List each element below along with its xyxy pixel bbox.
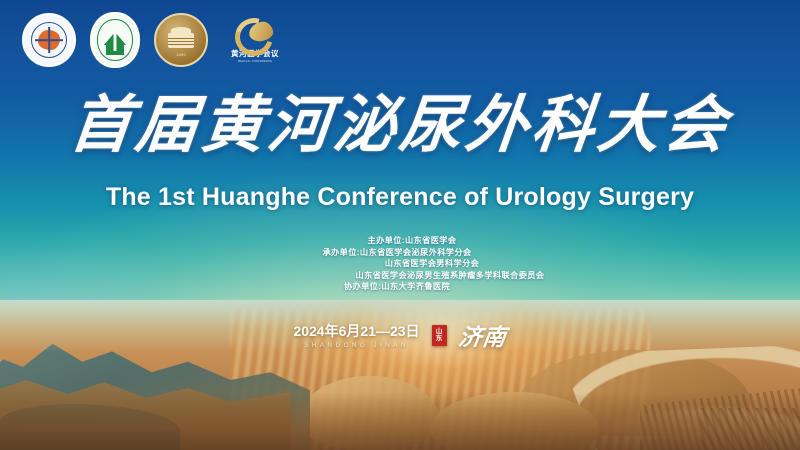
qilu-hospital-logo: 1890 (154, 13, 208, 67)
organizer-line: 承办单位:山东省医学会泌尿外科学分会 (322, 247, 471, 259)
logo3-building-mark (168, 33, 194, 48)
page-title-english: The 1st Huanghe Conference of Urology Su… (0, 183, 800, 212)
shandong-seal-stamp: 山 东 (432, 325, 447, 346)
landscape-foreground-shadow (0, 392, 800, 450)
organizer-line: 山东省医学会泌尿男生殖系肿瘤多学科联合委员会 (356, 270, 545, 282)
huanghe-medical-conference-logo: 黄河医学会议 MEDICAL CONFERENCE (222, 12, 288, 68)
organizer-list: 主办单位:山东省医学会 承办单位:山东省医学会泌尿外科学分会 山东省医学会男科学… (0, 235, 800, 293)
event-location-english: SHANDONG JINAN (304, 342, 409, 349)
date-block: 2024年6月21—23日 SHANDONG JINAN (293, 321, 419, 349)
seal-char-1: 山 (436, 328, 443, 336)
logo2-stem (114, 31, 117, 51)
page-title-chinese: 首届黄河泌尿外科大会 (0, 92, 800, 157)
logo1-cross-h (35, 39, 63, 41)
shandong-medical-association-logo (22, 13, 76, 67)
event-date: 2024年6月21—23日 (293, 321, 419, 341)
logo3-year: 1890 (176, 52, 186, 57)
organizer-line: 山东省医学会男科学分会 (385, 258, 479, 270)
event-city-chinese: 济南 (456, 318, 509, 352)
event-date-location: 2024年6月21—23日 SHANDONG JINAN 山 东 济南 (0, 318, 800, 352)
conference-poster: 1890 黄河医学会议 MEDICAL CONFERENCE 首届黄河泌尿外科大… (0, 0, 800, 450)
organizer-line: 主办单位:山东省医学会 (367, 235, 456, 247)
huanghe-logo-sublabel: MEDICAL CONFERENCE (238, 59, 272, 63)
shandong-university-logo (90, 12, 140, 68)
organizer-line: 协办单位:山东大学齐鲁医院 (344, 281, 450, 293)
logo-row: 1890 黄河医学会议 MEDICAL CONFERENCE (22, 12, 288, 68)
huanghe-swoosh-icon (235, 18, 275, 46)
seal-char-2: 东 (436, 335, 443, 343)
